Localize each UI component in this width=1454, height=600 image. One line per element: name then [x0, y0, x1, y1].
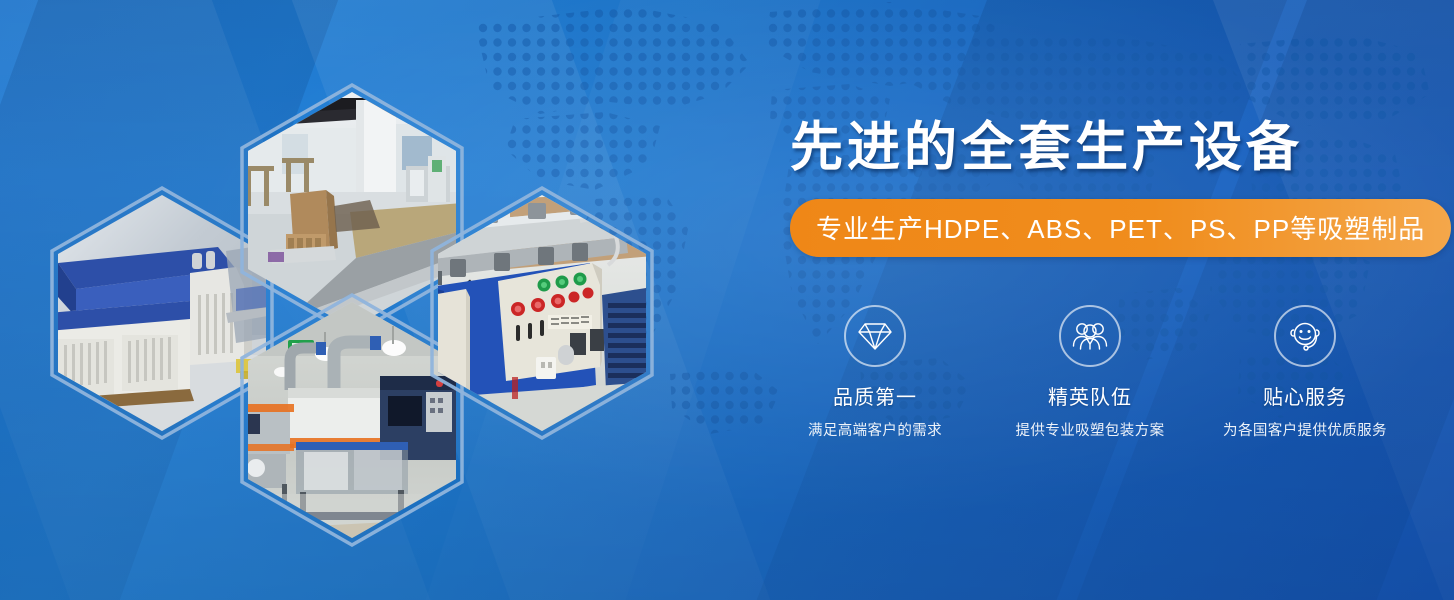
hexagon-photo-right[interactable]	[420, 185, 664, 435]
feature-list: 品质第一 满足高端客户的需求 精英队伍 提供专业吸塑包装方案	[770, 305, 1410, 440]
feature-item-service[interactable]: 贴心服务 为各国客户提供优质服务	[1200, 305, 1410, 440]
diamond-icon	[844, 305, 906, 367]
feature-title: 品质第一	[770, 381, 980, 410]
feature-desc: 提供专业吸塑包装方案	[985, 419, 1195, 440]
banner-copy: 先进的全套生产设备 专业生产HDPE、ABS、PET、PS、PP等吸塑制品	[790, 118, 1430, 257]
feature-title: 精英队伍	[985, 381, 1195, 410]
feature-item-quality[interactable]: 品质第一 满足高端客户的需求	[770, 305, 980, 440]
team-people-icon	[1059, 305, 1121, 367]
tagline-badge: 专业生产HDPE、ABS、PET、PS、PP等吸塑制品	[790, 199, 1451, 257]
feature-title: 贴心服务	[1200, 381, 1410, 410]
feature-item-team[interactable]: 精英队伍 提供专业吸塑包装方案	[985, 305, 1195, 440]
hexagon-photo-cluster	[40, 70, 680, 540]
smiley-headset-icon	[1274, 305, 1336, 367]
feature-desc: 为各国客户提供优质服务	[1200, 419, 1410, 440]
promo-banner: 先进的全套生产设备 专业生产HDPE、ABS、PET、PS、PP等吸塑制品 品质…	[0, 0, 1454, 600]
feature-desc: 满足高端客户的需求	[770, 419, 980, 440]
page-title: 先进的全套生产设备	[790, 118, 1430, 177]
